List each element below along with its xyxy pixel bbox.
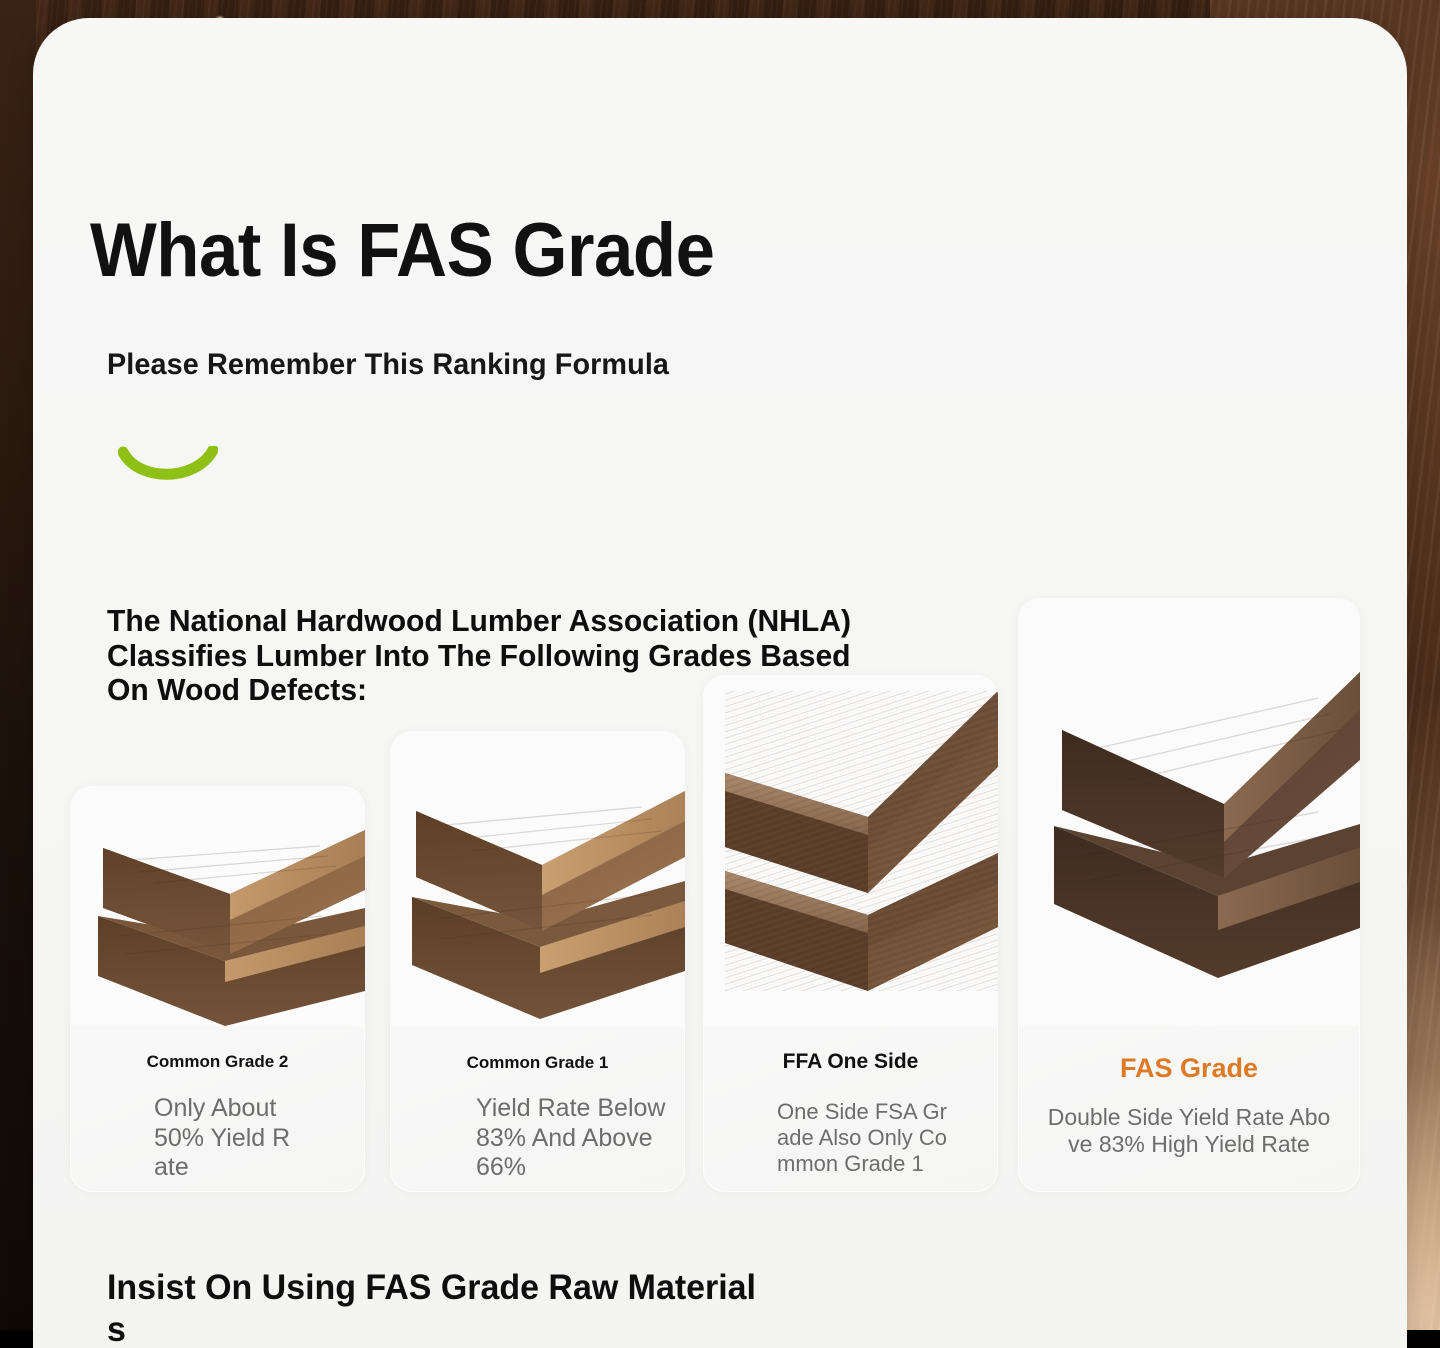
grade-card-description: Double Side Yield Rate Above 83% High Yi…	[1046, 1104, 1332, 1158]
grade-card-title: Common Grade 1	[390, 1053, 685, 1073]
grade-card-description: Yield Rate Below 83% And Above 66%	[476, 1094, 666, 1183]
grade-card-description: Only About 50% Yield Rate	[154, 1094, 294, 1183]
grade-card-common-grade-1[interactable]: Common Grade 1 Yield Rate Below 83% And …	[390, 731, 685, 1192]
lumber-boards-icon	[70, 786, 365, 1026]
grade-card-title: FAS Grade	[1018, 1053, 1360, 1084]
footer-heading: Insist On Using FAS Grade Raw Materials	[107, 1267, 757, 1348]
lumber-boards-icon	[390, 731, 685, 1027]
grade-card-title: FFA One Side	[703, 1050, 998, 1074]
grade-card-fas-grade[interactable]: FAS Grade Double Side Yield Rate Above 8…	[1018, 598, 1360, 1192]
lumber-boards-icon	[703, 675, 998, 1027]
content-panel: What Is FAS Grade Please Remember This R…	[33, 18, 1407, 1348]
grade-card-description: One Side FSA Grade Also Only Common Grad…	[777, 1099, 959, 1177]
grade-card-ffa-one-side[interactable]: FFA One Side One Side FSA Grade Also Onl…	[703, 675, 998, 1192]
grade-card-common-grade-2[interactable]: Common Grade 2 Only About 50% Yield Rate	[70, 786, 365, 1192]
grade-card-list: Common Grade 2 Only About 50% Yield Rate	[33, 18, 1407, 1348]
lumber-boards-icon	[1018, 598, 1360, 1026]
grade-card-title: Common Grade 2	[70, 1052, 365, 1072]
wood-background-left-strip	[0, 0, 36, 1330]
